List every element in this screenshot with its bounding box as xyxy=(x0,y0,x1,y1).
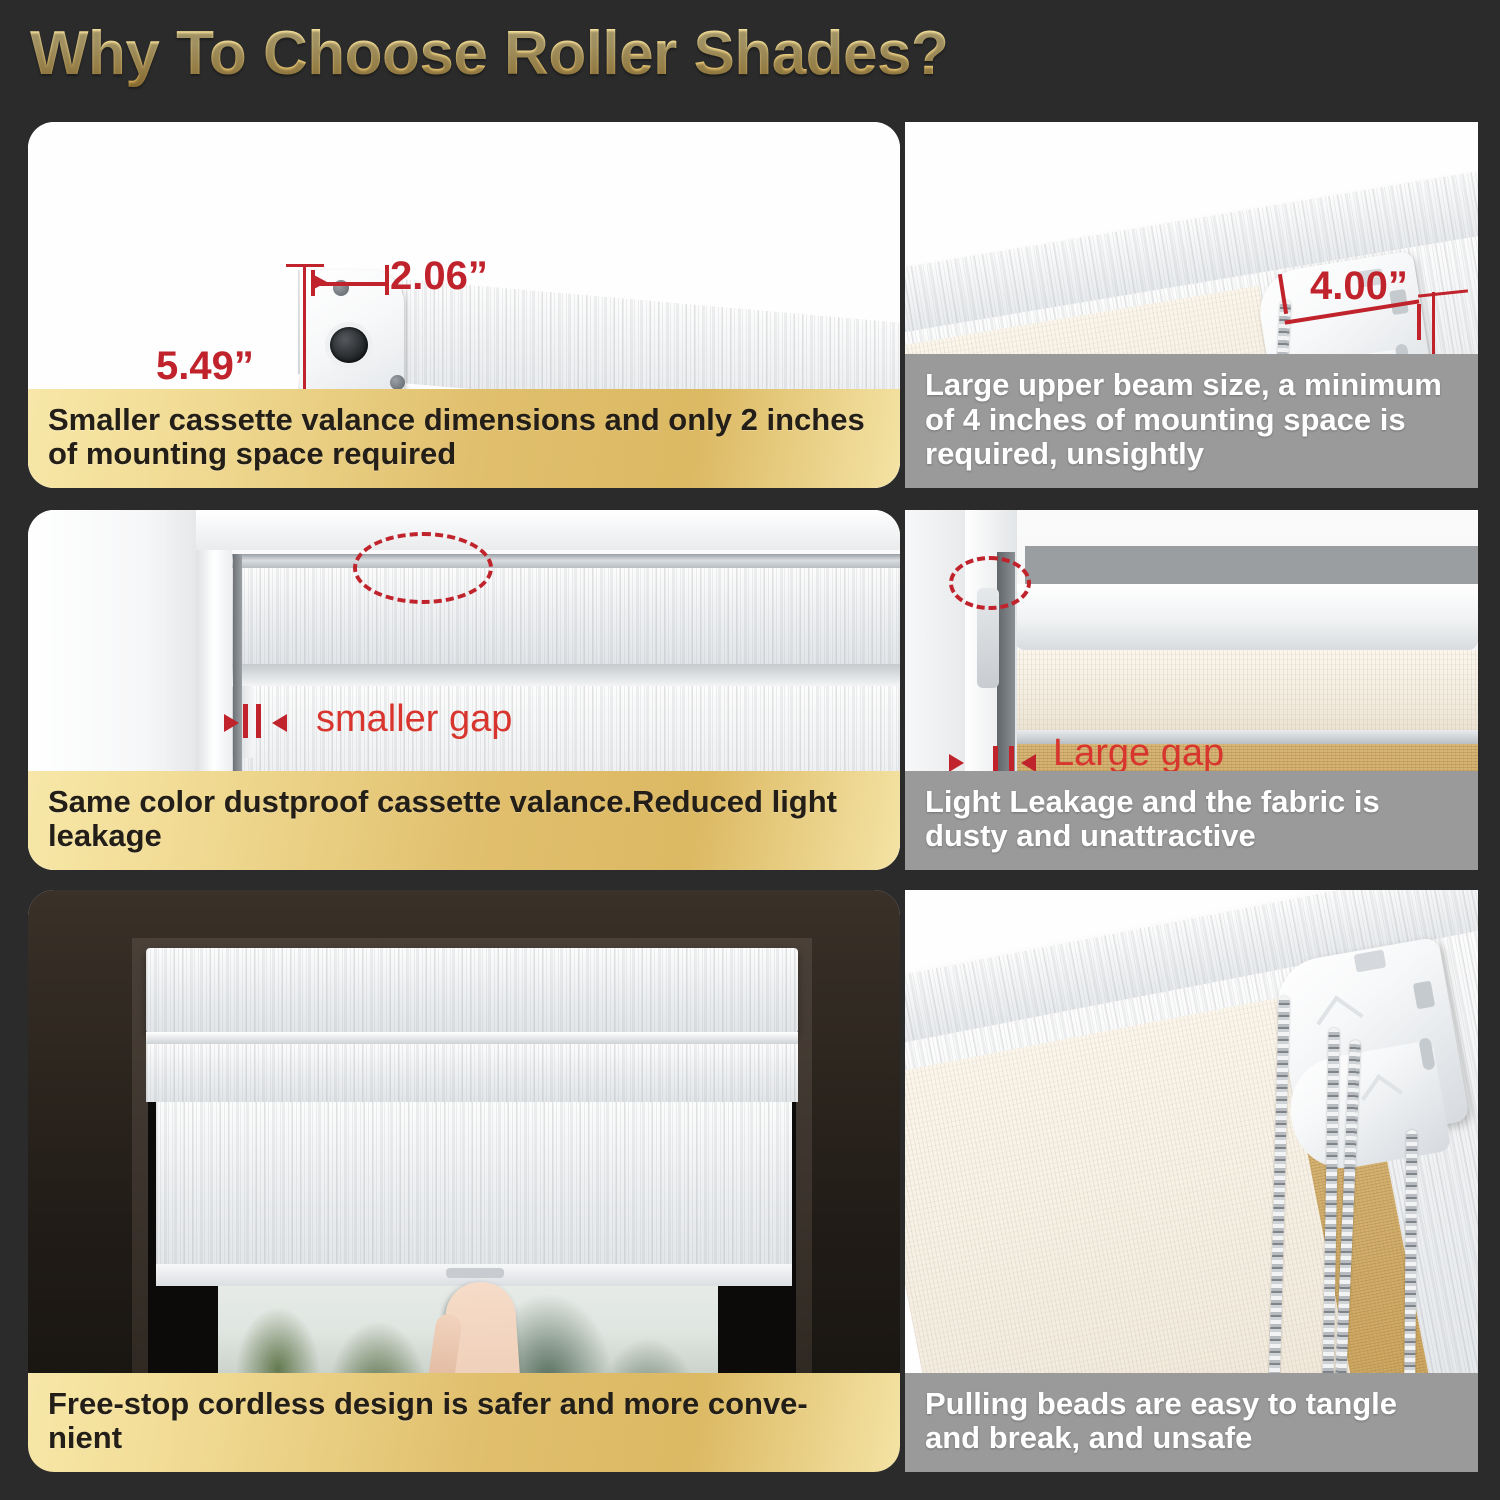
infographic-page: Why To Choose Roller Shades? 2.06” xyxy=(0,0,1500,1500)
fabric-cream-band xyxy=(1015,650,1478,730)
cordless-valance xyxy=(146,948,798,1034)
cassette-valance-face xyxy=(232,568,900,664)
gap-tick-right xyxy=(256,704,261,738)
window-frame-header xyxy=(196,510,900,550)
end-cap-screw-lower xyxy=(390,375,405,390)
caption-free-stop-cordless: Free-stop cordless design is safer and m… xyxy=(28,1373,900,1472)
gap-arrow-left xyxy=(224,714,239,732)
panel-free-stop-cordless: Free-stop cordless design is safer and m… xyxy=(28,890,900,1472)
panel-light-leakage: Large gap Light Leakage and the fabric i… xyxy=(905,510,1478,870)
cordless-shade-fabric xyxy=(156,1102,792,1272)
gap-tick-left xyxy=(243,704,248,738)
end-cap-roller-socket xyxy=(330,327,368,363)
cassette-valance-shadow-band xyxy=(232,664,900,686)
cordless-valance-lip xyxy=(146,1032,798,1044)
page-title: Why To Choose Roller Shades? xyxy=(30,18,948,89)
large-gap-arrow-right xyxy=(1021,754,1036,772)
panel-large-upper-beam: 4.00” 4.00” Large upper beam size, a min… xyxy=(905,122,1478,488)
cassette-valance-rail xyxy=(232,554,900,568)
caption-light-leakage: Light Leakage and the fabric is dusty an… xyxy=(905,771,1478,870)
caption-dustproof-cassette-valance: Same color dustproof cassette valance.Re… xyxy=(28,771,900,870)
panel-pulling-beads: Pulling beads are easy to tangle and bre… xyxy=(905,890,1478,1472)
valance-highlight-ellipse-2 xyxy=(353,532,493,604)
beam-width-tick-right xyxy=(1417,304,1421,340)
height-dim-tick-top xyxy=(286,264,324,267)
height-dimension-label: 5.49” xyxy=(156,344,254,389)
panel-dustproof-cassette-valance: smaller gap Same color dustproof cassett… xyxy=(28,510,900,870)
width-dimension-label: 2.06” xyxy=(390,254,488,299)
width-dim-tick-right xyxy=(385,265,389,295)
cordless-valance-lower xyxy=(146,1044,798,1102)
gap-arrow-right xyxy=(272,714,287,732)
width-dim-arrow-left xyxy=(314,275,327,289)
panel-cassette-valance-dimensions: 2.06” 5.49” Smaller cassette valance dim… xyxy=(28,122,900,488)
beam-width-label: 4.00” xyxy=(1310,264,1408,309)
large-gap-arrow-left xyxy=(949,754,964,772)
bottom-rail-handle xyxy=(446,1268,504,1278)
smaller-gap-label: smaller gap xyxy=(316,698,512,741)
caption-pulling-beads: Pulling beads are easy to tangle and bre… xyxy=(905,1373,1478,1472)
caption-cassette-valance-dimensions: Smaller cassette valance dimensions and … xyxy=(28,389,900,488)
roller-tube-white xyxy=(1015,584,1478,650)
large-gap-label: Large gap xyxy=(1053,732,1224,775)
caption-large-upper-beam: Large upper beam size, a minimum of 4 in… xyxy=(905,354,1478,488)
light-leak-highlight-ellipse xyxy=(949,556,1031,610)
